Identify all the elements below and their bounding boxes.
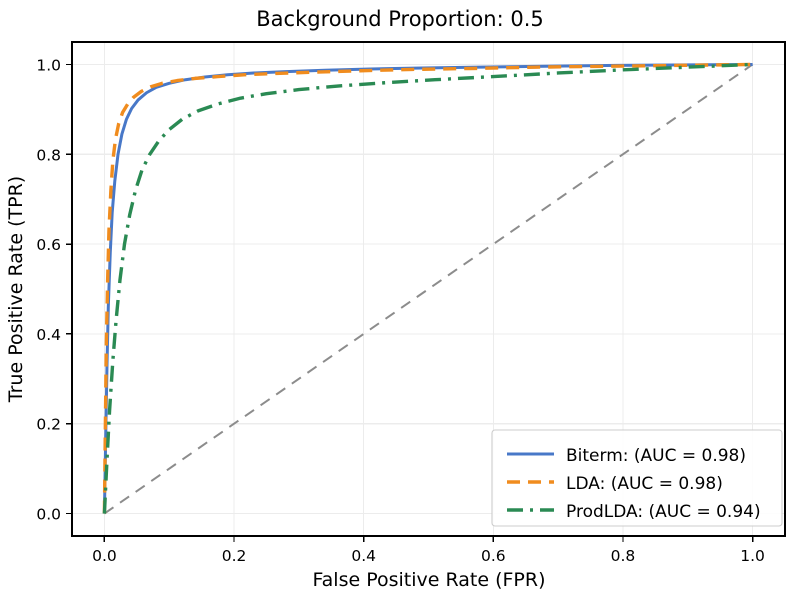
x-tick-label: 0.4 bbox=[351, 547, 376, 565]
x-tick-label: 0.8 bbox=[611, 547, 636, 565]
x-tick-label: 0.6 bbox=[481, 547, 506, 565]
y-tick-label: 0.4 bbox=[36, 326, 61, 344]
legend-label-lda: LDA: (AUC = 0.98) bbox=[566, 474, 723, 494]
legend-label-prodlda: ProdLDA: (AUC = 0.94) bbox=[566, 502, 761, 522]
y-axis-label: True Positive Rate (TPR) bbox=[5, 176, 27, 403]
y-tick-label: 0.8 bbox=[36, 146, 61, 164]
chart-title: Background Proportion: 0.5 bbox=[256, 7, 543, 31]
y-tick-label: 0.0 bbox=[36, 506, 61, 524]
y-tick-label: 1.0 bbox=[36, 56, 61, 74]
legend-label-biterm: Biterm: (AUC = 0.98) bbox=[566, 446, 746, 466]
y-tick-label: 0.2 bbox=[36, 416, 61, 434]
x-tick-label: 0.0 bbox=[92, 547, 117, 565]
y-tick-label: 0.6 bbox=[36, 236, 61, 254]
chart-legend[interactable]: Biterm: (AUC = 0.98)LDA: (AUC = 0.98)Pro… bbox=[492, 430, 782, 526]
x-tick-label: 0.2 bbox=[222, 547, 247, 565]
roc-curve-figure: Background Proportion: 0.5 0.00.20.40.60… bbox=[0, 0, 800, 600]
chart-canvas: Background Proportion: 0.5 0.00.20.40.60… bbox=[0, 0, 800, 600]
x-tick-label: 1.0 bbox=[740, 547, 765, 565]
x-axis-label: False Positive Rate (FPR) bbox=[312, 569, 545, 591]
